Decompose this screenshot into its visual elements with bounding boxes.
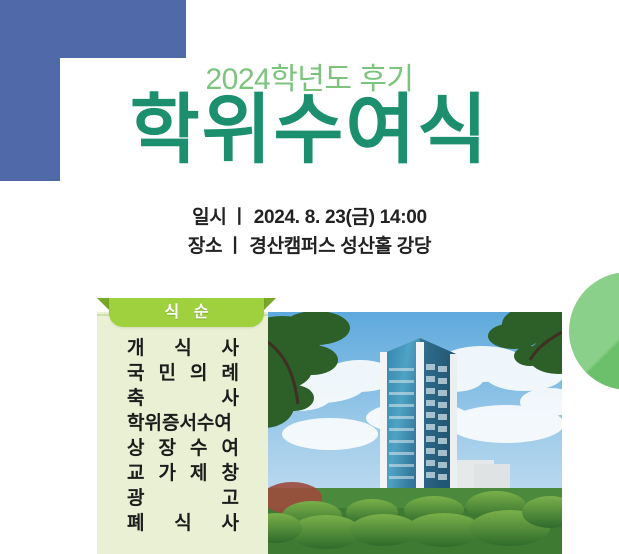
- program-item-char: 제: [190, 461, 207, 486]
- campus-photo-illustration: [268, 312, 562, 554]
- event-date-line: 일시ㅣ2024. 8. 23(금) 14:00: [0, 203, 619, 232]
- program-banner-tail-left: [97, 298, 109, 310]
- event-venue-value: 경산캠퍼스 성산홀 강당: [249, 236, 431, 257]
- program-item-char: 식: [174, 336, 191, 361]
- program-banner-label: 식 순: [109, 298, 264, 327]
- program-item-char: 장: [159, 436, 176, 461]
- program-item-char: 사: [222, 386, 239, 411]
- program-item-char: 폐: [127, 511, 144, 536]
- program-item-char: 민: [159, 361, 176, 386]
- program-item-char: 축: [127, 386, 144, 411]
- decor-green-circle: [569, 272, 619, 390]
- event-date-value: 2024. 8. 23(금) 14:00: [254, 207, 427, 228]
- program-item-char: 교: [127, 461, 144, 486]
- program-item-char: 례: [222, 361, 239, 386]
- program-item-char: 상: [127, 436, 144, 461]
- program-item-char: 여: [222, 436, 239, 461]
- program-item-char: 의: [190, 361, 207, 386]
- event-venue-line: 장소ㅣ경산캠퍼스 성산홀 강당: [0, 232, 619, 261]
- poster-title: 학위수여식: [0, 93, 619, 169]
- event-date-separator: ㅣ: [231, 203, 248, 232]
- program-item-char: 고: [222, 486, 239, 511]
- program-list-item: 개식사: [127, 336, 239, 361]
- program-item-char: 국: [127, 361, 144, 386]
- program-list-item: 광고: [127, 486, 239, 511]
- program-list-item: 상장수여: [127, 436, 239, 461]
- poster-root: 2024학년도 후기 학위수여식 일시ㅣ2024. 8. 23(금) 14:00…: [0, 0, 619, 554]
- event-venue-separator: ㅣ: [226, 232, 243, 261]
- program-list-item: 학위증서수여: [127, 411, 239, 436]
- program-item-char: 개: [127, 336, 144, 361]
- program-banner-tail-right: [264, 298, 276, 310]
- program-item-char: 식: [174, 511, 191, 536]
- event-venue-label: 장소: [188, 236, 222, 257]
- program-item-char: 가: [159, 461, 176, 486]
- program-list: 개식사국민의례축사학위증서수여상장수여교가제창광고폐식사: [97, 336, 269, 536]
- program-item-char: 광: [127, 486, 144, 511]
- program-item-char: 창: [222, 461, 239, 486]
- program-item-char: 수: [190, 436, 207, 461]
- program-item-char: 사: [222, 511, 239, 536]
- program-item-char: 사: [222, 336, 239, 361]
- program-item-char: 학위증서수여: [127, 411, 232, 436]
- program-list-item: 국민의례: [127, 361, 239, 386]
- program-list-item: 폐식사: [127, 511, 239, 536]
- event-info: 일시ㅣ2024. 8. 23(금) 14:00 장소ㅣ경산캠퍼스 성산홀 강당: [0, 203, 619, 262]
- event-date-label: 일시: [192, 207, 226, 228]
- program-list-item: 교가제창: [127, 461, 239, 486]
- campus-photo: [268, 312, 562, 554]
- program-list-item: 축사: [127, 386, 239, 411]
